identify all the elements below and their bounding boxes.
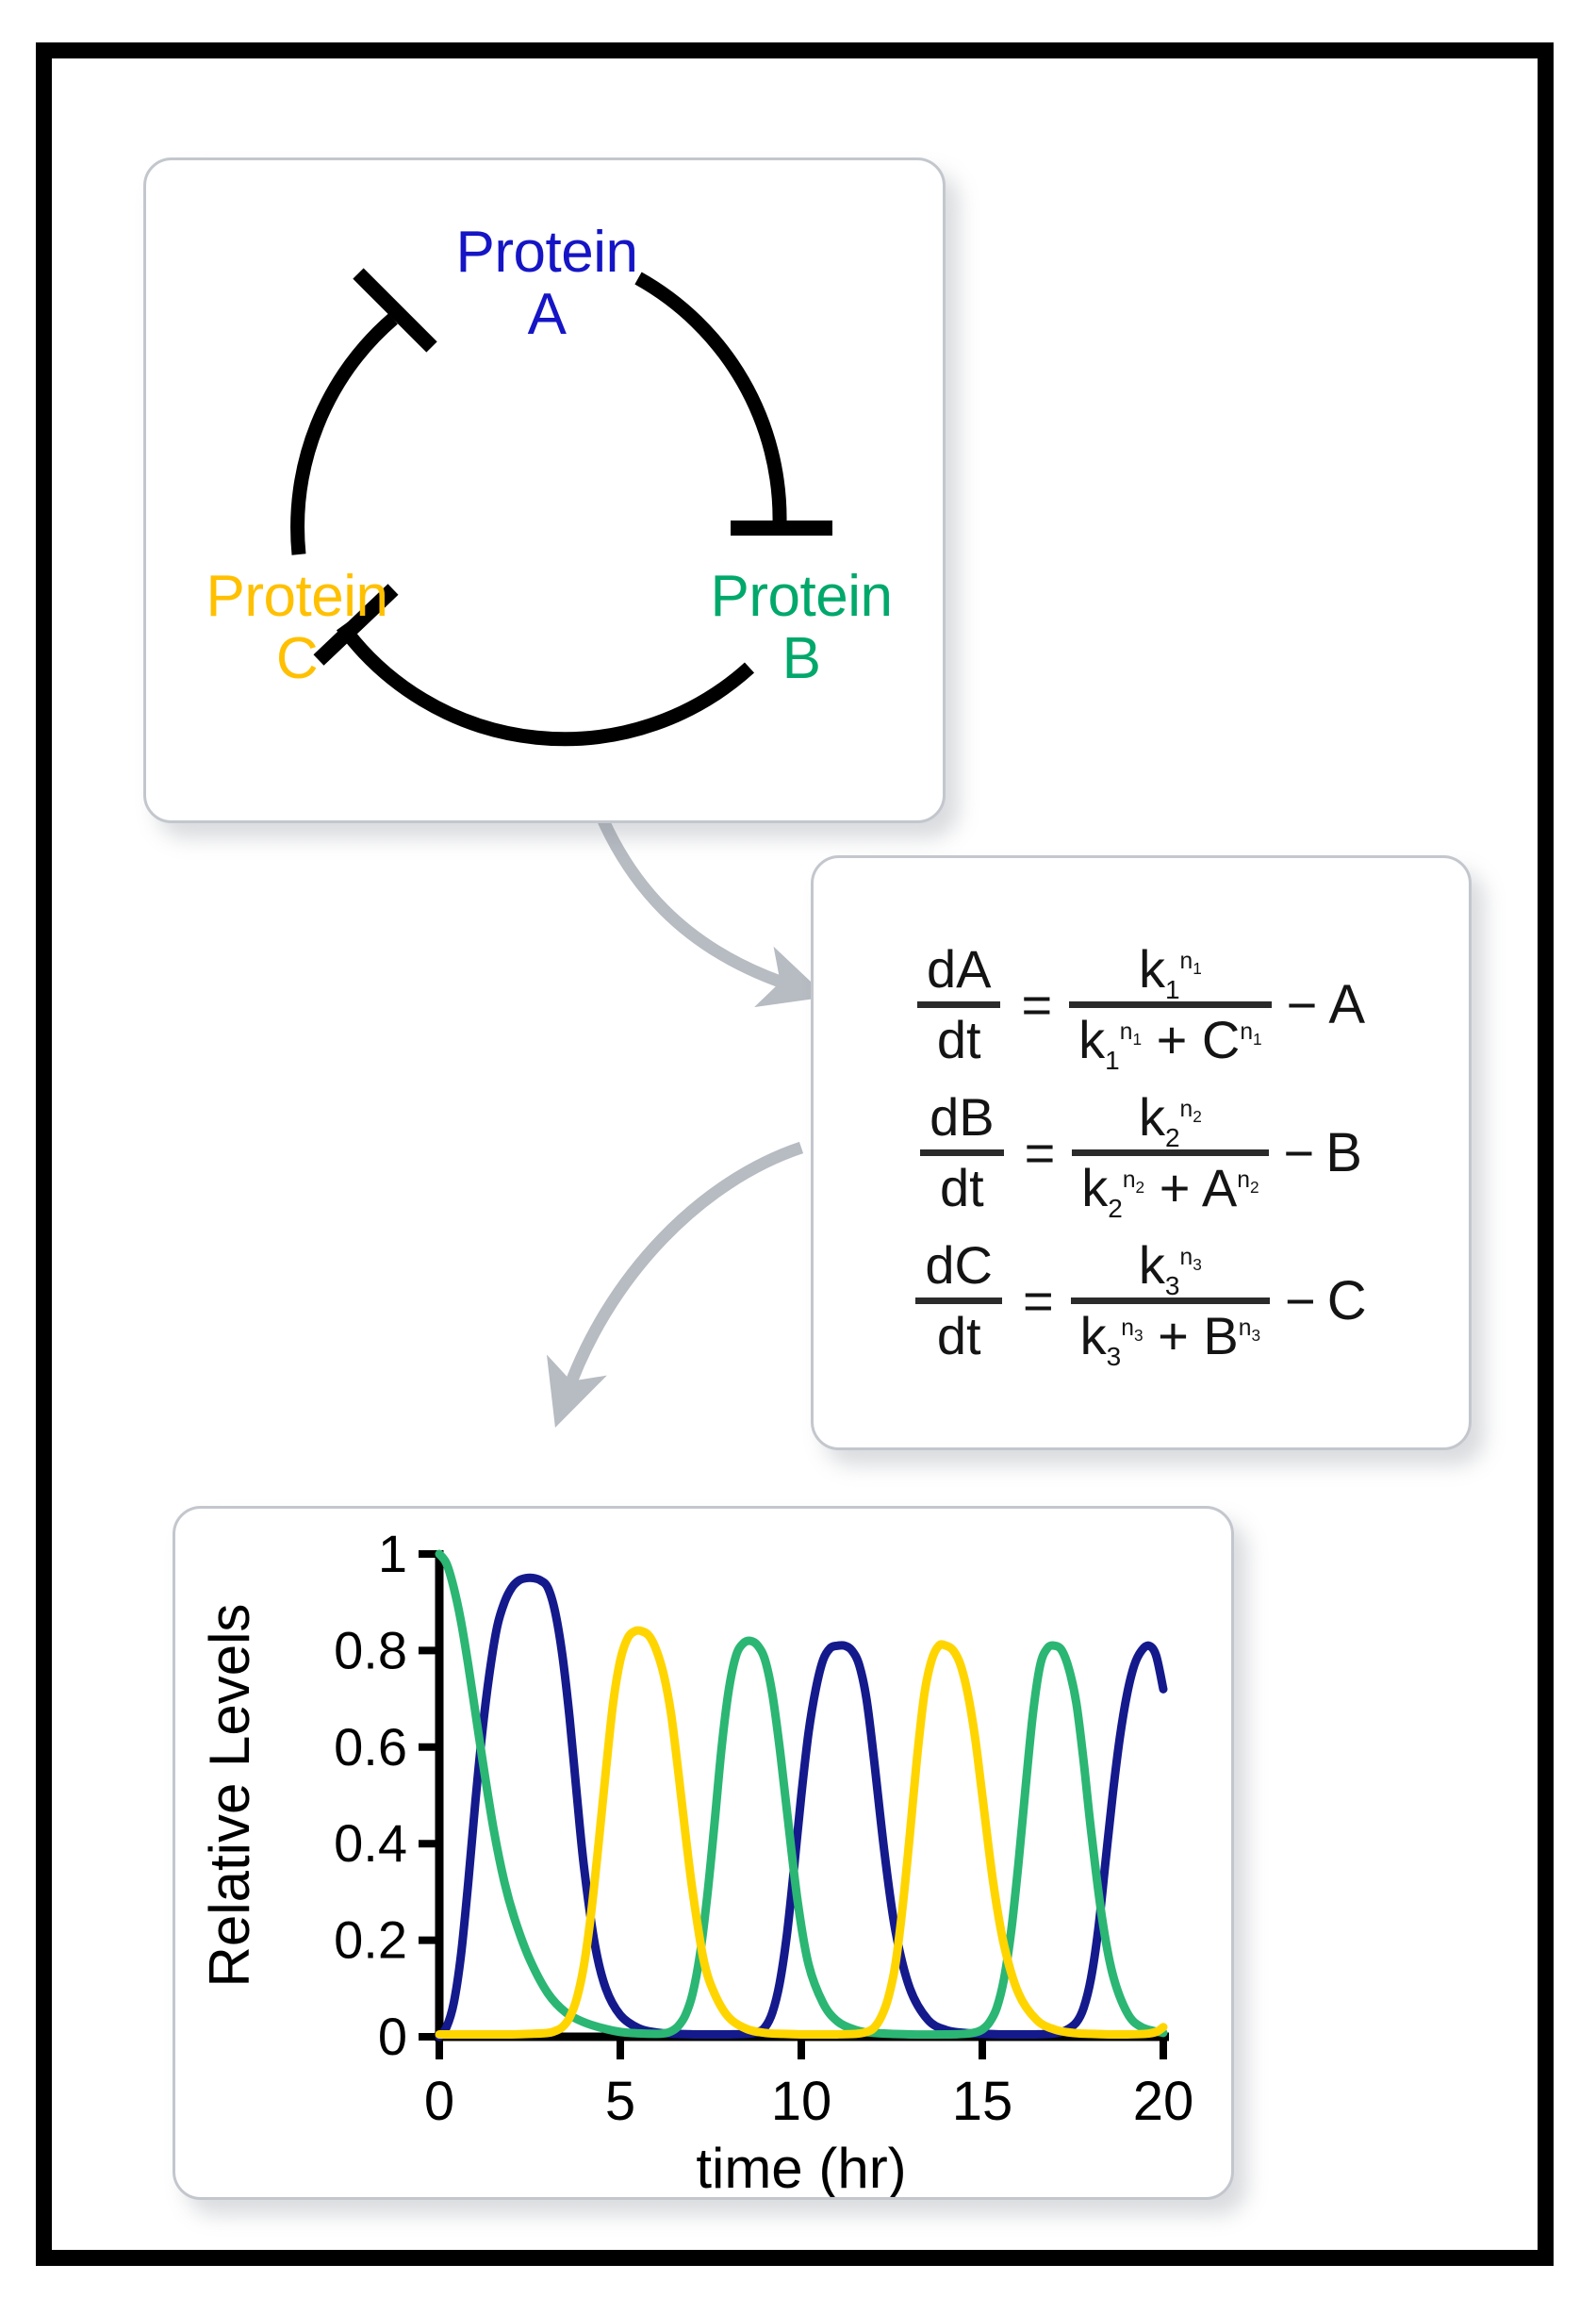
eq1-denominator: k1n1 + Cn1 bbox=[1069, 1013, 1271, 1067]
eq1-den-varn: n bbox=[1240, 1019, 1253, 1045]
eq1-rhs-fraction: k1n1 k1n1 + Cn1 bbox=[1069, 942, 1271, 1067]
eq1-lhs: dA dt bbox=[917, 942, 1001, 1067]
eq3-den-varexp: n3 bbox=[1239, 1315, 1260, 1341]
eq3-den-k: k bbox=[1080, 1306, 1107, 1365]
node-a-line1: Protein bbox=[456, 220, 638, 285]
eq1-num-k: k bbox=[1139, 939, 1165, 999]
eq3-equals: = bbox=[1023, 1270, 1054, 1331]
eq2-decay-term: B bbox=[1325, 1121, 1362, 1184]
eq2-lhs-bar bbox=[920, 1149, 1004, 1156]
eq1-den-plus: + bbox=[1157, 1010, 1188, 1069]
eq1-num-exp: n1 bbox=[1180, 949, 1202, 974]
eq2-num-nsub: 2 bbox=[1193, 1107, 1202, 1126]
x-tick-label: 10 bbox=[771, 2071, 832, 2132]
eq2-den-ksub: 2 bbox=[1108, 1194, 1123, 1223]
eq2-num-exp: n2 bbox=[1180, 1097, 1202, 1122]
eq3-num-nsub: 3 bbox=[1193, 1255, 1202, 1274]
eq1-den-varexp: n1 bbox=[1240, 1019, 1261, 1045]
eq3-decay-term: C bbox=[1327, 1269, 1367, 1332]
eq3-lhs-den: dt bbox=[928, 1309, 991, 1364]
eq1-num-n: n bbox=[1180, 949, 1193, 974]
eq1-minus: − bbox=[1287, 974, 1318, 1035]
eq1-num-nsub: 1 bbox=[1193, 959, 1202, 978]
eq2-equals: = bbox=[1025, 1122, 1056, 1183]
eq1-den-ksub: 1 bbox=[1105, 1046, 1120, 1075]
node-label-protein-a: Protein A bbox=[405, 222, 688, 345]
node-label-protein-c: Protein C bbox=[156, 566, 438, 689]
y-tick-label: 0.2 bbox=[334, 1910, 407, 1970]
eq1-num-ksub: 1 bbox=[1165, 975, 1180, 1004]
eq1-den-nsub: 1 bbox=[1132, 1030, 1142, 1049]
figure-frame: Protein A Protein B Protein C dA dt = k bbox=[36, 42, 1554, 2266]
x-axis-label: time (hr) bbox=[696, 2137, 906, 2197]
node-a-line2: A bbox=[528, 282, 567, 347]
eq2-den-varnsub: 2 bbox=[1250, 1178, 1259, 1197]
y-axis-label: Relative Levels bbox=[198, 1604, 261, 1988]
y-tick-label: 0.8 bbox=[334, 1620, 407, 1679]
node-b-line2: B bbox=[782, 626, 821, 691]
eq2-den-varexp: n2 bbox=[1237, 1167, 1259, 1193]
eq1-lhs-den: dt bbox=[928, 1013, 991, 1067]
x-tick-label: 0 bbox=[424, 2071, 454, 2132]
repressilator-circuit-card: Protein A Protein B Protein C bbox=[143, 157, 946, 823]
equation-dc-dt: dC dt = k3n3 k3n3 + Bn3 − C bbox=[915, 1238, 1366, 1364]
eq3-frac-bar bbox=[1071, 1297, 1270, 1304]
eq2-den-nsub: 2 bbox=[1136, 1178, 1145, 1197]
node-label-protein-b: Protein B bbox=[660, 566, 943, 689]
equation-da-dt: dA dt = k1n1 k1n1 + Cn1 − A bbox=[917, 942, 1365, 1067]
eq1-lhs-num: dA bbox=[917, 942, 1001, 997]
eq1-den-varnsub: 1 bbox=[1253, 1030, 1262, 1049]
eq1-numerator: k1n1 bbox=[1129, 942, 1211, 997]
y-tick-label: 0 bbox=[378, 2007, 407, 2066]
eq3-den-kexp: n3 bbox=[1121, 1315, 1143, 1341]
node-c-line2: C bbox=[276, 626, 318, 691]
eq3-den-var: B bbox=[1203, 1306, 1238, 1365]
eq2-den-plus: + bbox=[1160, 1158, 1191, 1217]
eq3-lhs: dC dt bbox=[915, 1238, 1002, 1364]
timecourse-plot-card: 00.20.40.60.8105101520time (hr)Relative … bbox=[173, 1506, 1234, 2200]
eq3-den-varnsub: 3 bbox=[1251, 1326, 1260, 1345]
node-c-line1: Protein bbox=[206, 564, 388, 629]
eq1-den-kexp: n1 bbox=[1120, 1019, 1142, 1045]
eq2-den-var: A bbox=[1202, 1158, 1237, 1217]
eq2-rhs-fraction: k2n2 k2n2 + An2 bbox=[1072, 1090, 1268, 1215]
eq3-num-k: k bbox=[1139, 1235, 1165, 1295]
eq2-num-ksub: 2 bbox=[1165, 1123, 1180, 1152]
eq3-num-exp: n3 bbox=[1179, 1245, 1201, 1270]
eq1-den-n: n bbox=[1120, 1019, 1133, 1045]
eq2-lhs: dB dt bbox=[920, 1090, 1004, 1215]
x-tick-label: 5 bbox=[605, 2071, 635, 2132]
eq1-decay-term: A bbox=[1328, 973, 1365, 1036]
eq2-den-n: n bbox=[1123, 1167, 1136, 1193]
eq2-den-k: k bbox=[1081, 1158, 1108, 1217]
eq3-den-nsub: 3 bbox=[1134, 1326, 1144, 1345]
oscillation-chart: 00.20.40.60.8105101520time (hr)Relative … bbox=[175, 1509, 1231, 2197]
eq2-num-n: n bbox=[1180, 1097, 1193, 1122]
eq3-den-plus: + bbox=[1158, 1306, 1189, 1365]
y-tick-label: 0.4 bbox=[334, 1813, 407, 1873]
eq2-frac-bar bbox=[1072, 1149, 1268, 1156]
eq1-frac-bar bbox=[1069, 1001, 1271, 1008]
eq2-den-varn: n bbox=[1237, 1167, 1250, 1193]
eq1-den-var: C bbox=[1202, 1010, 1240, 1069]
equations-card: dA dt = k1n1 k1n1 + Cn1 − A dB dt bbox=[811, 855, 1472, 1450]
eq1-lhs-bar bbox=[917, 1001, 1001, 1008]
eq2-denominator: k2n2 + An2 bbox=[1072, 1161, 1268, 1215]
eq2-numerator: k2n2 bbox=[1129, 1090, 1211, 1145]
eq3-den-n: n bbox=[1121, 1315, 1134, 1341]
x-tick-label: 20 bbox=[1133, 2071, 1194, 2132]
eq1-den-k: k bbox=[1078, 1010, 1105, 1069]
eq2-minus: − bbox=[1284, 1122, 1315, 1183]
y-tick-label: 1 bbox=[378, 1524, 407, 1583]
eq3-lhs-num: dC bbox=[915, 1238, 1002, 1293]
eq3-den-ksub: 3 bbox=[1107, 1342, 1122, 1371]
x-tick-label: 15 bbox=[952, 2071, 1013, 2132]
eq3-rhs-fraction: k3n3 k3n3 + Bn3 bbox=[1071, 1238, 1270, 1364]
eq3-minus: − bbox=[1285, 1270, 1316, 1331]
y-tick-label: 0.6 bbox=[334, 1717, 407, 1777]
eq2-lhs-den: dt bbox=[930, 1161, 994, 1215]
eq1-equals: = bbox=[1021, 974, 1052, 1035]
eq3-numerator: k3n3 bbox=[1129, 1238, 1211, 1293]
equation-db-dt: dB dt = k2n2 k2n2 + An2 − B bbox=[920, 1090, 1362, 1215]
eq2-den-kexp: n2 bbox=[1123, 1167, 1144, 1193]
eq3-num-ksub: 3 bbox=[1165, 1271, 1180, 1300]
arrow-equations-to-plot bbox=[566, 1148, 801, 1397]
eq2-lhs-num: dB bbox=[920, 1090, 1004, 1145]
eq3-num-n: n bbox=[1179, 1245, 1193, 1270]
node-b-line1: Protein bbox=[711, 564, 893, 629]
eq3-lhs-bar bbox=[915, 1297, 1002, 1304]
eq2-num-k: k bbox=[1139, 1087, 1165, 1147]
eq3-den-varn: n bbox=[1239, 1315, 1252, 1341]
eq3-denominator: k3n3 + Bn3 bbox=[1071, 1309, 1270, 1364]
